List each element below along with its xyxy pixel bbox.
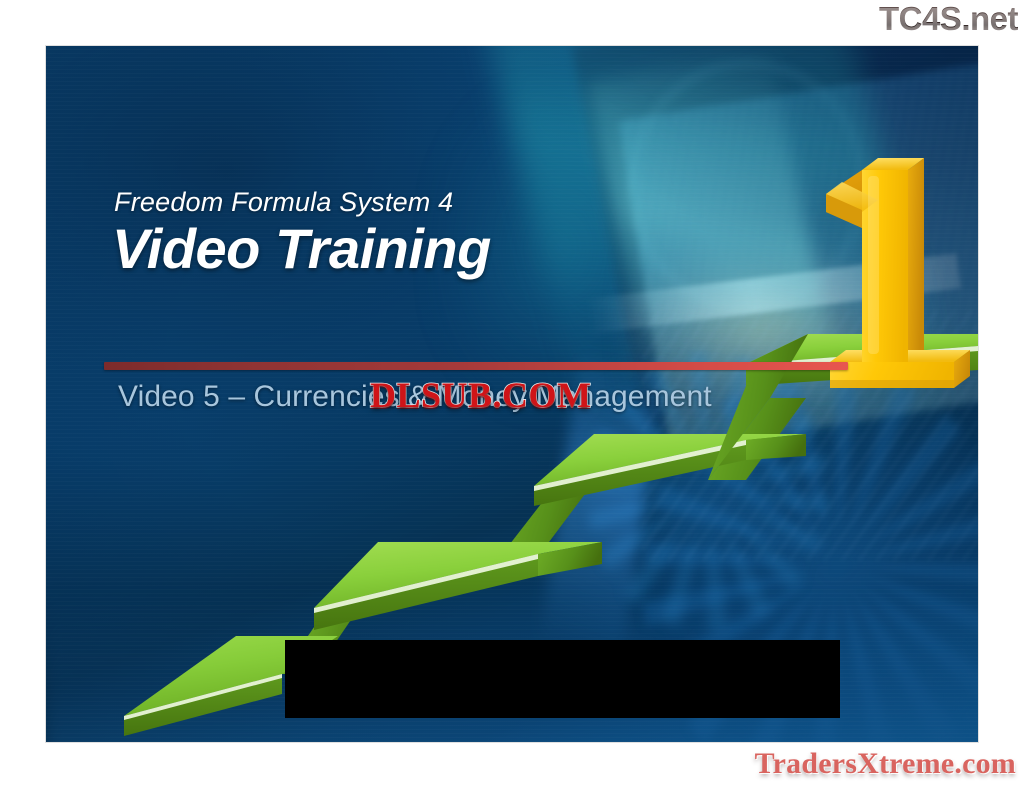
tc4s-watermark: TC4S.net (879, 2, 1018, 35)
page-canvas: TC4S.net (0, 0, 1024, 791)
presentation-slide: Freedom Formula System 4 Video Training … (46, 46, 978, 742)
page-title: Video Training (112, 220, 852, 279)
eyebrow-text: Freedom Formula System 4 (114, 186, 852, 218)
red-divider-rule (104, 362, 848, 370)
step-3 (534, 434, 806, 506)
dlsub-watermark: DLSUB.COM (370, 374, 592, 416)
redaction-bar (285, 640, 840, 718)
tradersxtreme-watermark: TradersXtreme.com (755, 747, 1016, 781)
title-text-block: Freedom Formula System 4 Video Training (112, 186, 852, 289)
step-2 (314, 542, 602, 630)
